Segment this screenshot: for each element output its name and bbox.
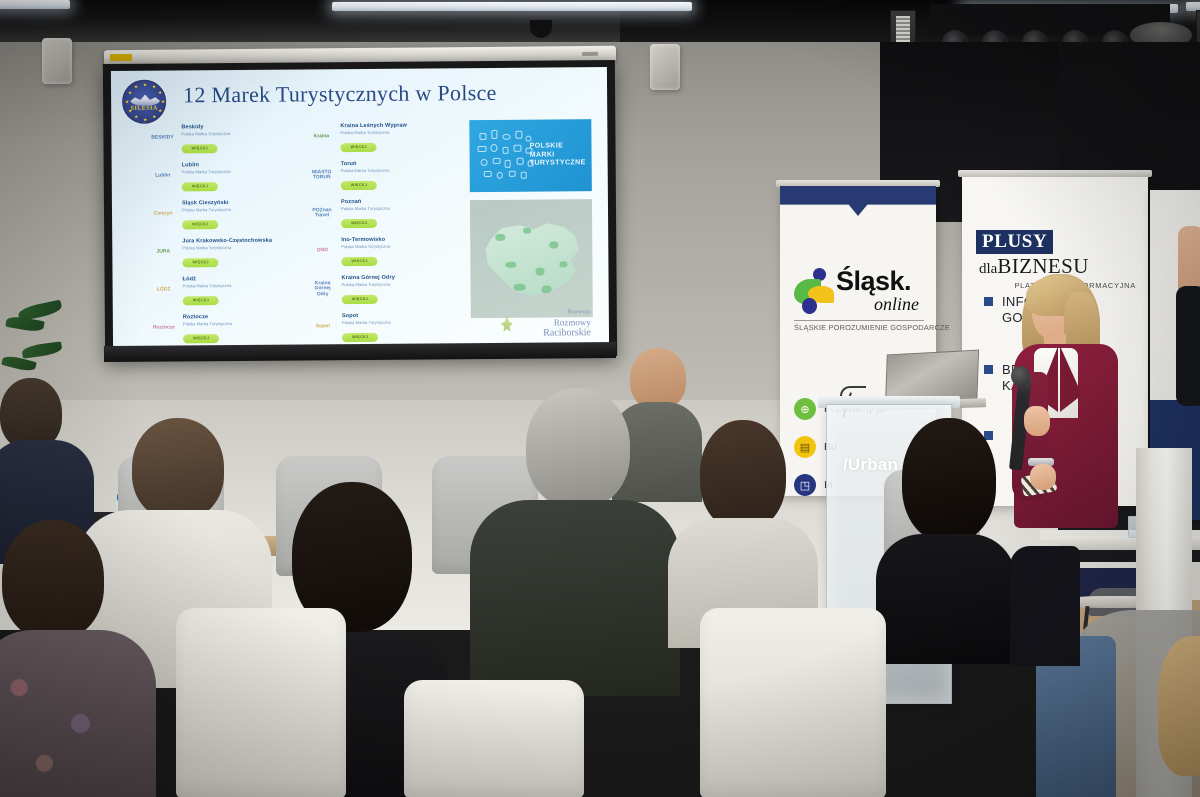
brand-row[interactable]: MIASTO TORUŃ Toruń Polska Marka Turystyc…: [309, 160, 450, 199]
silesia-eu-logo: SILESIA: [122, 80, 166, 124]
wall-speaker-icon: [42, 38, 72, 84]
brand-more-button[interactable]: WIĘCEJ: [183, 296, 219, 305]
pmt-banner-text: POLSKIE MARKI TURYSTYCZNE: [530, 142, 586, 169]
foreground-shadow: [1010, 546, 1080, 666]
brand-column-right: Kraina Kraina Leśnych Wypraw Polska Mark…: [308, 122, 451, 351]
brand-more-button[interactable]: WIĘCEJ: [182, 182, 218, 191]
banner-navy-header: [780, 186, 936, 216]
fluorescent-tube-icon: [0, 0, 70, 9]
slask-tagline: ŚLĄSKIE POROZUMIENIE GOSPODARCZE: [794, 320, 924, 332]
dla-word: dla: [979, 261, 997, 277]
brand-logo-icon: POZnan Travel: [309, 200, 335, 226]
brand-row[interactable]: Kraina Górnej Odry Kraina Górnej Odry Po…: [310, 274, 451, 313]
brand-name: Roztocze: [183, 314, 292, 321]
brand-name: Poznań: [341, 198, 450, 205]
brand-row[interactable]: Lublin Lublin Polska Marka Turystyczna W…: [150, 162, 291, 201]
chair-front[interactable]: [176, 608, 346, 797]
brand-subtitle: Polska Marka Turystyczna: [341, 243, 450, 249]
brand-subtitle: Polska Marka Turystyczna: [341, 167, 450, 173]
silesia-crest-icon: [130, 94, 160, 106]
projection-screen: SILESIA 12 Marek Turystycznych w Polsce …: [103, 60, 617, 360]
pmt-line-3: TURYSTYCZNE: [530, 160, 586, 169]
plusy-word: PLUSY: [976, 230, 1053, 254]
brand-row[interactable]: POZnan Travel Poznań Polska Marka Turyst…: [309, 198, 450, 237]
brand-more-button[interactable]: WIĘCEJ: [181, 144, 217, 153]
brand-name: Sopot: [342, 312, 451, 319]
rozmowy-raciborskie-logo: Rozwoju Rozmowy Raciborskie: [499, 309, 591, 340]
slask-figure-icon: [794, 268, 834, 314]
chair-front[interactable]: [404, 680, 584, 797]
brand-more-button[interactable]: WIĘCEJ: [341, 180, 377, 189]
banner-top-rail: [776, 180, 940, 187]
brand-logo-icon: ONO: [309, 238, 335, 264]
brand-logo-icon: JURA: [150, 239, 176, 265]
pmt-line-1: POLSKIE: [530, 142, 586, 151]
brand-logo-icon: Kraina Górnej Odry: [310, 276, 336, 302]
housing-label-icon: [582, 52, 598, 56]
brand-subtitle: Polska Marka Turystyczna: [340, 129, 449, 135]
brand-row[interactable]: ŁÓDŹ Łódź Polska Marka Turystyczna WIĘCE…: [151, 276, 292, 315]
brand-subtitle: Polska Marka Turystyczna: [183, 283, 292, 289]
brand-name: Beskidy: [181, 124, 290, 131]
presenter: [1008, 268, 1128, 528]
audience-person: [0, 520, 156, 797]
brand-name: Jura Krakowsko-Częstochowska: [182, 238, 291, 245]
brand-name: Ino-Termowisko: [341, 236, 450, 243]
brand-row[interactable]: Kraina Kraina Leśnych Wypraw Polska Mark…: [308, 122, 449, 161]
presenter-hand: [1024, 406, 1050, 436]
rr-line-1: Rozwoju: [568, 309, 591, 315]
rr-line-2: Rozmowy: [554, 317, 591, 327]
wall-speaker-icon: [650, 44, 680, 90]
brand-subtitle: Polska Marka Turystyczna: [342, 281, 451, 287]
fluorescent-tube-icon: [332, 2, 692, 11]
conference-room-scene: SILESIA 12 Marek Turystycznych w Polsce …: [0, 0, 1200, 797]
slide-title: 12 Marek Turystycznych w Polsce: [183, 80, 497, 108]
presenter-hand-lower: [1030, 464, 1056, 490]
tourism-icons-cluster-icon: [475, 127, 526, 185]
brand-row[interactable]: JURA Jura Krakowsko-Częstochowska Polska…: [150, 238, 291, 277]
brand-subtitle: Polska Marka Turystyczna: [341, 205, 450, 211]
brand-row[interactable]: Cieszyn Śląsk Cieszyński Polska Marka Tu…: [150, 200, 291, 239]
brand-name: Toruń: [341, 160, 450, 167]
brand-row[interactable]: ONO Ino-Termowisko Polska Marka Turystyc…: [309, 236, 450, 275]
brand-more-button[interactable]: WIĘCEJ: [342, 294, 378, 303]
silesia-logo-word: SILESIA: [123, 106, 165, 112]
rr-line-3: Raciborskie: [543, 327, 591, 338]
brand-subtitle: Polska Marka Turystyczna: [182, 207, 291, 213]
slask-online-logo: Śląsk. online ŚLĄSKIE POROZUMIENIE GOSPO…: [794, 264, 924, 326]
square-bullet-icon: [984, 297, 993, 306]
brand-subtitle: Polska Marka Turystyczna: [182, 169, 291, 175]
brand-row[interactable]: BESKIDY Beskidy Polska Marka Turystyczna…: [149, 124, 290, 163]
poland-outline-icon: [479, 215, 584, 302]
brand-more-button[interactable]: WIĘCEJ: [341, 256, 377, 265]
rr-leaf-icon: [501, 316, 513, 332]
brand-more-button[interactable]: WIĘCEJ: [183, 334, 219, 343]
globe-icon: ⊕: [794, 398, 816, 420]
housing-label-icon: [110, 54, 132, 61]
brand-logo-icon: Sopot: [310, 314, 336, 340]
brand-more-button[interactable]: WIĘCEJ: [340, 142, 376, 151]
brand-logo-icon: Roztocze: [151, 315, 177, 341]
brand-name: Kraina Leśnych Wypraw: [340, 122, 449, 129]
brand-subtitle: Polska Marka Turystyczna: [181, 131, 290, 137]
polskie-marki-turystyczne-banner: POLSKIE MARKI TURYSTYCZNE: [469, 119, 592, 192]
audience-person: [470, 388, 680, 688]
brand-logo-icon: ŁÓDŹ: [151, 277, 177, 303]
poland-map-image: [470, 199, 593, 318]
audience-person: [668, 420, 818, 640]
brand-more-button[interactable]: WIĘCEJ: [182, 220, 218, 229]
brand-subtitle: Polska Marka Turystyczna: [342, 319, 451, 325]
brand-subtitle: Polska Marka Turystyczna: [183, 321, 292, 327]
brand-name: Lublin: [182, 162, 291, 169]
square-bullet-icon: [984, 365, 993, 374]
pmt-line-2: MARKI: [530, 151, 586, 160]
brand-more-button[interactable]: WIĘCEJ: [342, 332, 378, 341]
brand-name: Śląsk Cieszyński: [182, 200, 291, 207]
chair-front[interactable]: [700, 608, 886, 797]
microphone-head-icon: [1011, 366, 1030, 386]
brand-logo-icon: BESKIDY: [149, 125, 175, 151]
slask-wordmark: Śląsk.: [836, 266, 911, 297]
slask-online-word: online: [874, 294, 919, 315]
brand-logo-icon: Cieszyn: [150, 201, 176, 227]
presentation-slide: SILESIA 12 Marek Turystycznych w Polsce …: [111, 67, 609, 353]
brand-logo-icon: MIASTO TORUŃ: [309, 162, 335, 188]
brand-more-button[interactable]: WIĘCEJ: [182, 258, 218, 267]
audience-person: [876, 418, 1016, 658]
brand-subtitle: Polska Marka Turystyczna: [182, 245, 291, 251]
brand-logo-icon: Kraina: [308, 124, 334, 150]
brand-grid: BESKIDY Beskidy Polska Marka Turystyczna…: [149, 122, 451, 352]
brand-logo-icon: Lublin: [150, 163, 176, 189]
banner-top-rail: [958, 170, 1152, 177]
brand-name: Łódź: [183, 276, 292, 283]
brand-name: Kraina Górnej Odry: [342, 274, 451, 281]
brand-more-button[interactable]: WIĘCEJ: [341, 218, 377, 227]
brand-column-left: BESKIDY Beskidy Polska Marka Turystyczna…: [149, 124, 292, 353]
person-sleeve-right-edge: [1176, 286, 1200, 406]
